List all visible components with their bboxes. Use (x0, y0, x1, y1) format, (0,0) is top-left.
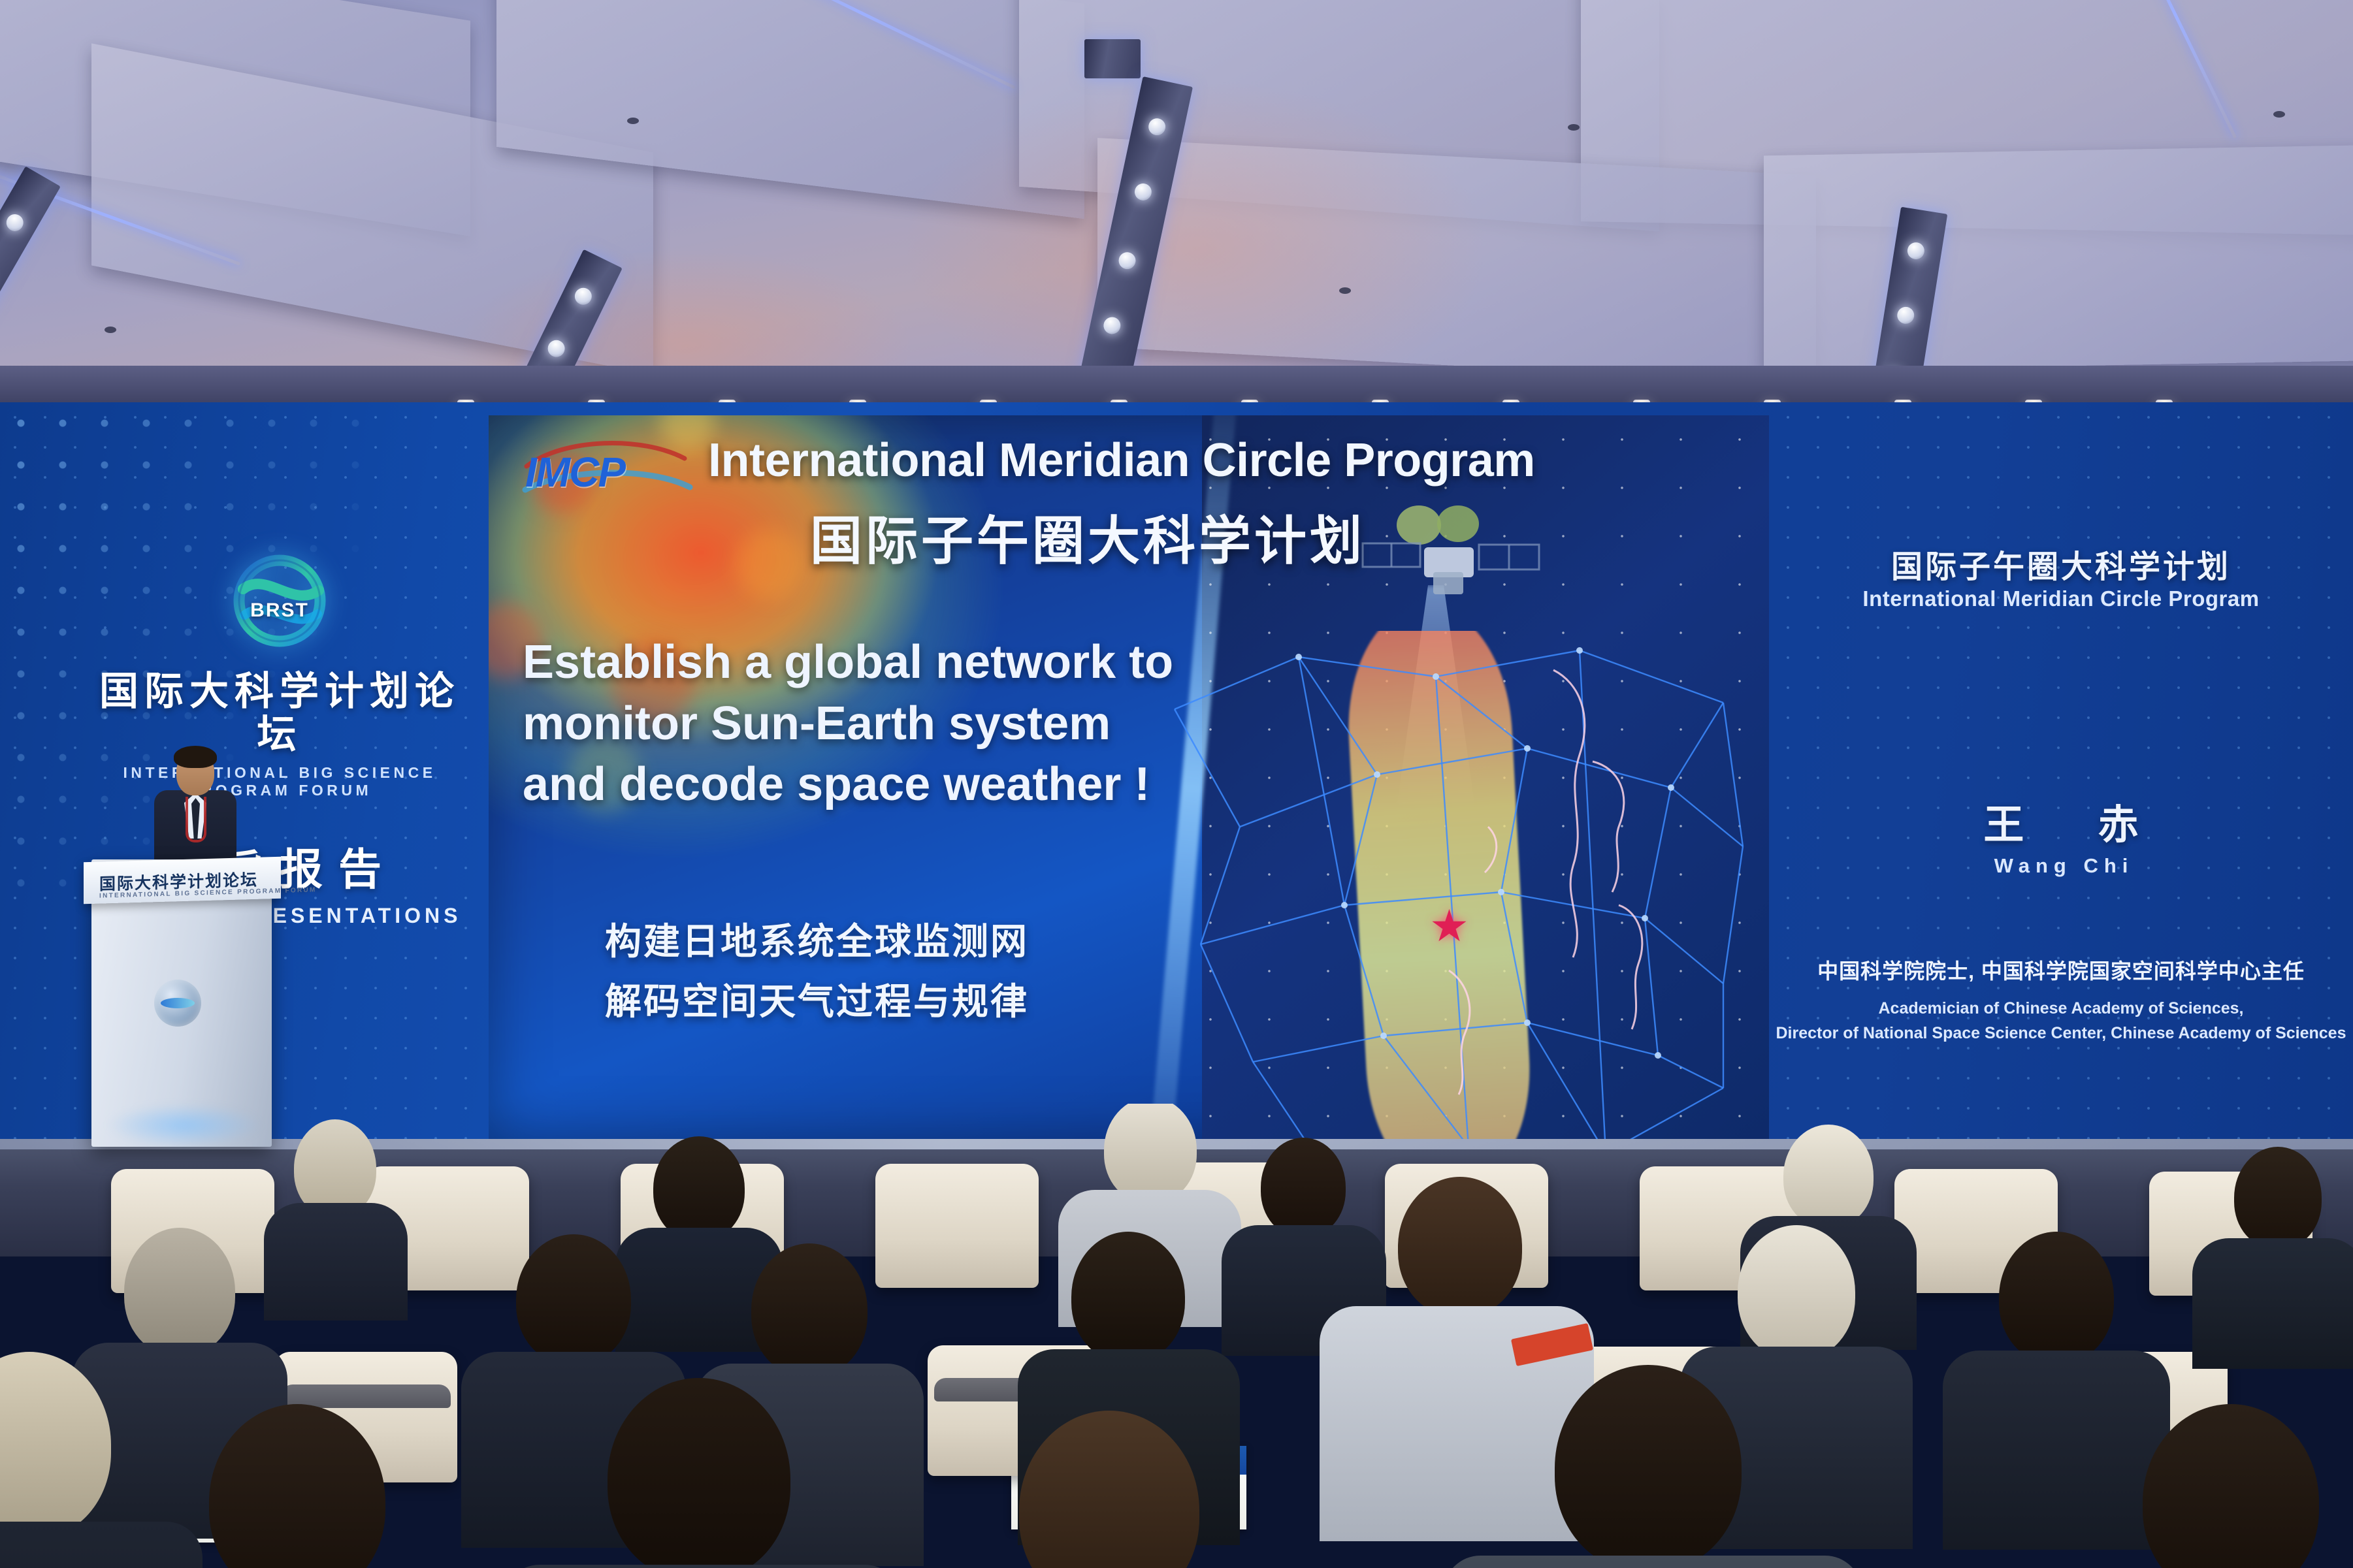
audience-area: 国际大科学计划论坛 o Matshe 国际大科学计划论坛 骆清铭 国际大科学计划… (0, 1104, 2353, 1568)
earth-network-globe: ★ (1161, 631, 1749, 1140)
slide-body-cn: 构建日地系统全球监测网 解码空间天气过程与规律 (605, 912, 1029, 1032)
slide-body-cn-line2: 解码空间天气过程与规律 (605, 972, 1029, 1032)
speaker-name-en: Wang Chi (1769, 854, 2353, 878)
speaker-title-cn: 中国科学院院士, 中国科学院国家空间科学中心主任 (1769, 955, 2353, 985)
imcp-logo-text: IMCP (525, 448, 625, 496)
conference-hall-photo: BRST 国际大科学计划论坛 INTERNATIONAL BIG SCIENCE… (0, 0, 2353, 1568)
red-star-marker: ★ (1429, 904, 1469, 948)
speaker-program-cn: 国际子午圈大科学计划 (1769, 541, 2353, 586)
slide-title-cn: 国际子午圈大科学计划 (810, 499, 1365, 575)
forum-name-en: INTERNATIONAL BIG SCIENCE PROGRAM FORUM (77, 764, 482, 799)
lanyard (186, 797, 206, 842)
coastline-overlay (1161, 631, 1749, 1140)
forum-name-cn: 国际大科学计划论坛 (77, 670, 482, 756)
speaker-title-en-line2: Director of National Space Science Cente… (1764, 1024, 2353, 1043)
speaker-title-en-line1: Academician of Chinese Academy of Scienc… (1769, 999, 2353, 1018)
presentation-slide: ★ IMCP International Meridian Circle Pro… (489, 415, 1769, 1140)
ceiling (0, 0, 2353, 418)
speaker-name-cn: 王 赤 (1769, 792, 2353, 850)
ceiling-speaker-icon (1339, 287, 1351, 294)
ceiling-speaker-icon (2273, 111, 2285, 118)
slide-title-en: International Meridian Circle Program (708, 434, 1535, 487)
ceiling-speaker-icon (1568, 124, 1580, 131)
speaker-program-en: International Meridian Circle Program (1769, 586, 2353, 611)
podium-emblem-icon (154, 980, 201, 1027)
ceiling-speaker-icon (627, 118, 639, 124)
ceiling-speaker-icon (105, 327, 116, 333)
imcp-logo-icon: IMCP (519, 430, 702, 502)
speaker-info-panel: 国际子午圈大科学计划 International Meridian Circle… (1769, 418, 2353, 1156)
slide-body-cn-line1: 构建日地系统全球监测网 (605, 912, 1029, 972)
slide-body-en: Establish a global network to monitor Su… (523, 632, 1195, 816)
brst-logo-text: BRST (77, 600, 482, 622)
